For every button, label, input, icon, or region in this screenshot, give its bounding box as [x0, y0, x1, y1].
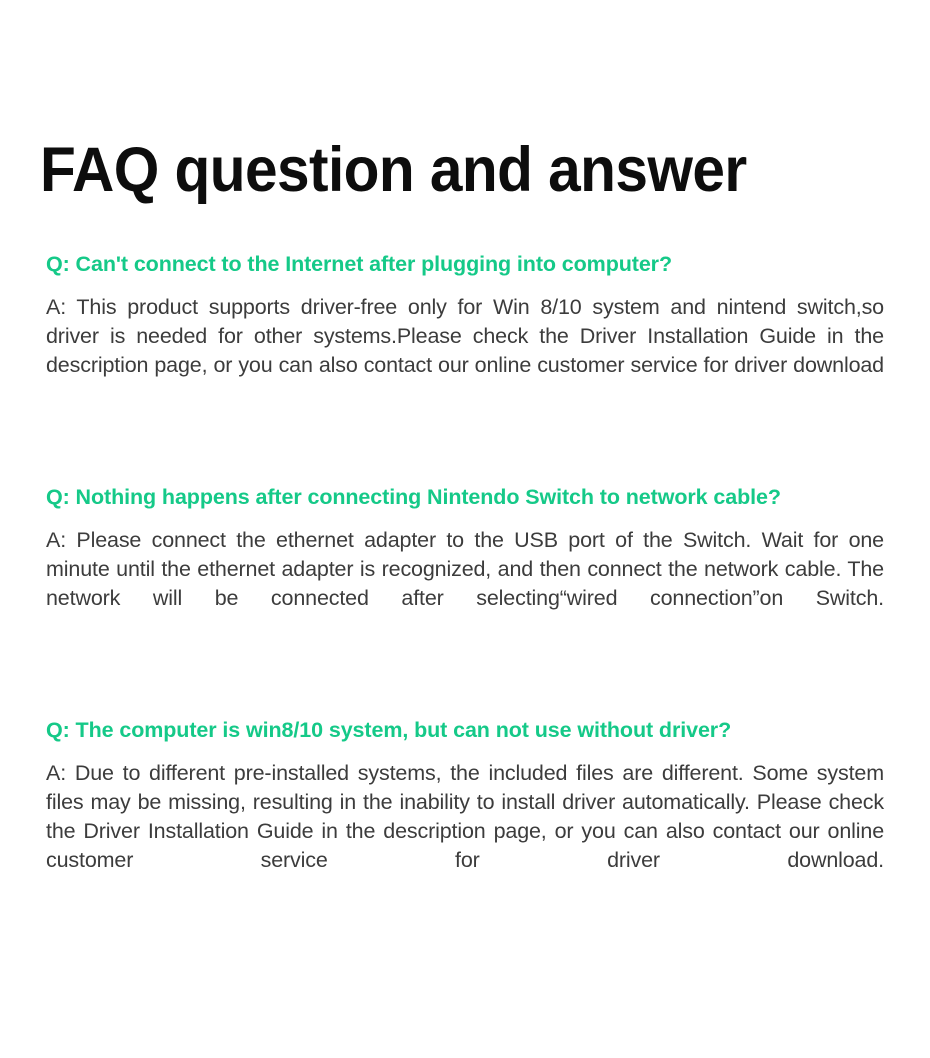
faq-question: Q: The computer is win8/10 system, but c…	[46, 712, 884, 748]
faq-question: Q: Can't connect to the Internet after p…	[46, 246, 884, 282]
faq-answer: A: This product supports driver-free onl…	[46, 293, 884, 409]
page-title: FAQ question and answer	[40, 139, 747, 202]
faq-item: Q: Can't connect to the Internet after p…	[46, 246, 884, 409]
faq-item: Q: Nothing happens after connecting Nint…	[46, 479, 884, 642]
faq-page: FAQ question and answer Q: Can't connect…	[0, 0, 930, 1058]
faq-item: Q: The computer is win8/10 system, but c…	[46, 712, 884, 904]
faq-answer: A: Due to different pre-installed system…	[46, 759, 884, 904]
faq-answer: A: Please connect the ethernet adapter t…	[46, 526, 884, 642]
faq-question: Q: Nothing happens after connecting Nint…	[46, 479, 884, 515]
faq-list: Q: Can't connect to the Internet after p…	[46, 246, 884, 904]
